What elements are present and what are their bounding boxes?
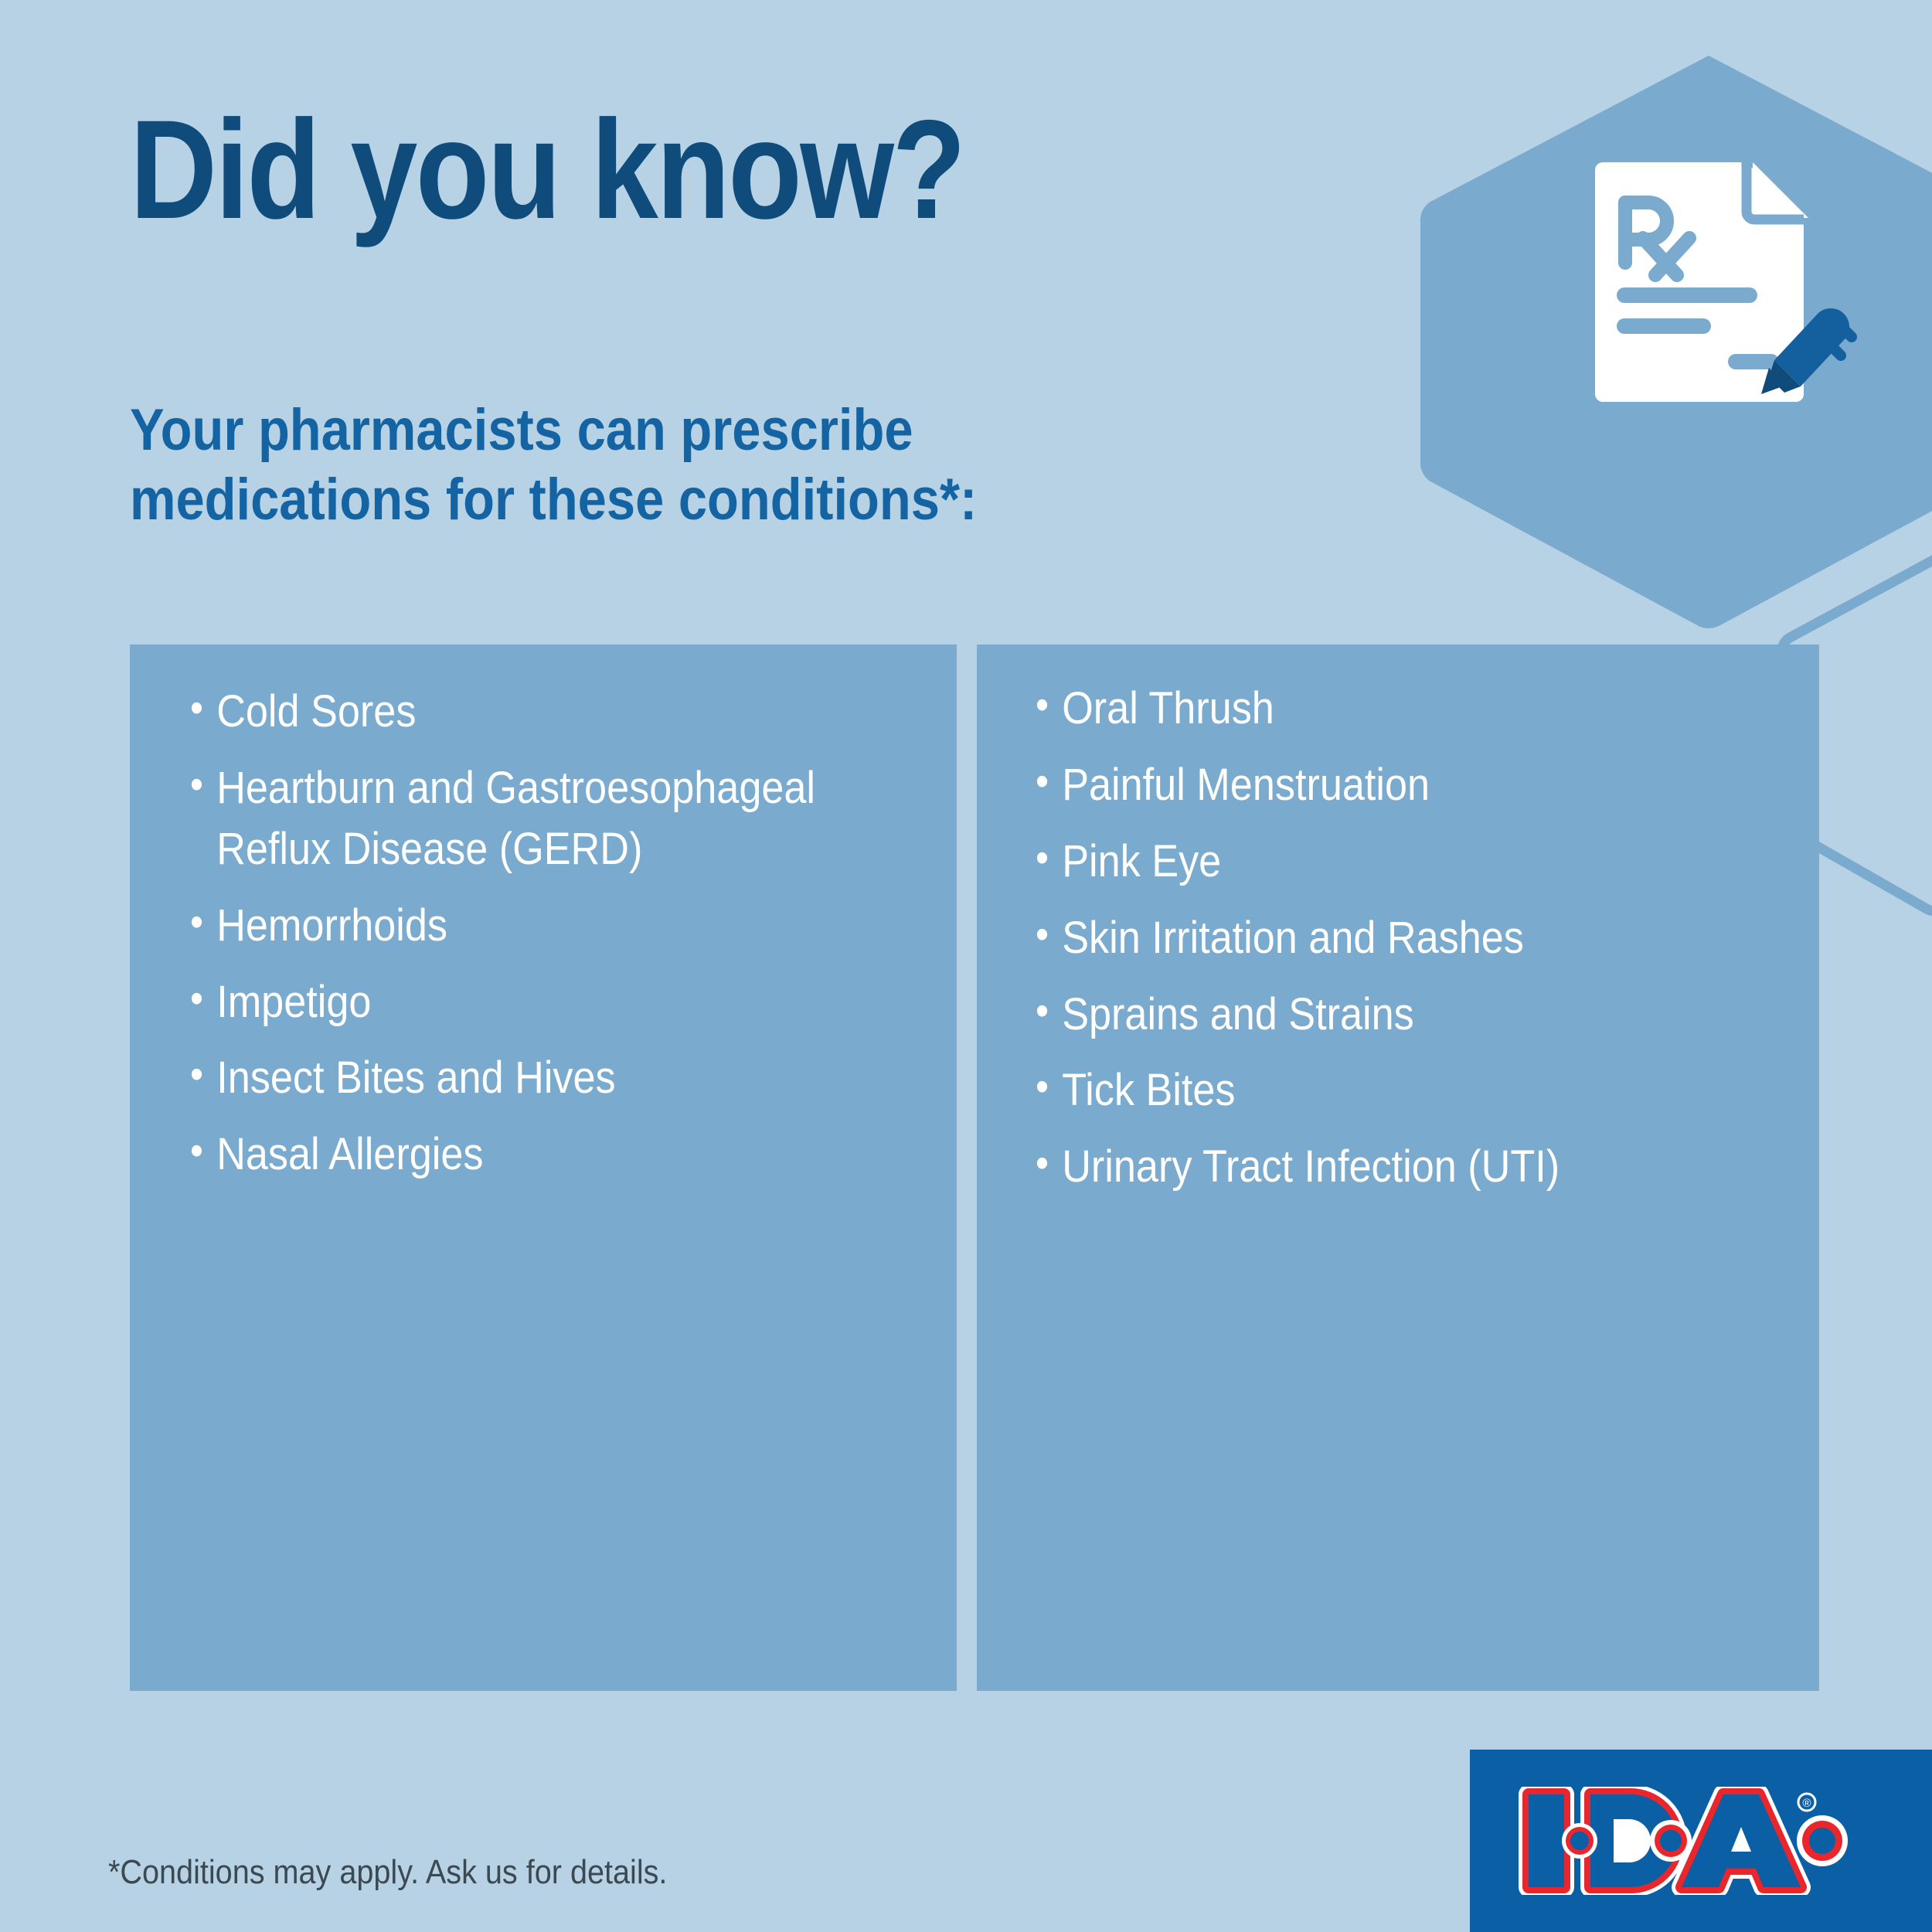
list-item: Heartburn and Gastroesophageal Reflux Di…	[190, 758, 859, 880]
page-subtitle-line-1: Your pharmacists can prescribe	[130, 396, 977, 465]
ida-logo: ®	[1470, 1750, 1932, 1932]
list-item: Pink Eye	[1036, 832, 1727, 893]
conditions-panel-left: Cold Sores Heartburn and Gastroesophagea…	[130, 645, 957, 1691]
list-item: Tick Bites	[1036, 1060, 1727, 1121]
list-item: Impetigo	[190, 972, 859, 1033]
prescription-document-icon	[1581, 155, 1867, 410]
page-subtitle: Your pharmacists can prescribe medicatio…	[130, 396, 977, 534]
list-item: Urinary Tract Infection (UTI)	[1036, 1137, 1727, 1198]
conditions-list-right: Oral Thrush Painful Menstruation Pink Ey…	[977, 645, 1819, 1198]
list-item: Painful Menstruation	[1036, 755, 1727, 816]
poster-canvas: Did you know? Your pharmacists can presc…	[0, 0, 1932, 1932]
page-subtitle-line-2: medications for these conditions*:	[130, 465, 977, 535]
conditions-panel-right: Oral Thrush Painful Menstruation Pink Ey…	[977, 645, 1819, 1691]
list-item: Hemorrhoids	[190, 896, 859, 957]
ida-logo-mark: ®	[1516, 1787, 1856, 1895]
list-item: Oral Thrush	[1036, 679, 1727, 740]
footnote-disclaimer: *Conditions may apply. Ask us for detail…	[108, 1853, 667, 1892]
svg-text:®: ®	[1802, 1797, 1811, 1810]
conditions-list-left: Cold Sores Heartburn and Gastroesophagea…	[130, 645, 957, 1185]
page-title: Did you know?	[130, 99, 964, 240]
list-item: Nasal Allergies	[190, 1124, 859, 1185]
list-item: Cold Sores	[190, 682, 859, 743]
list-item: Insect Bites and Hives	[190, 1048, 859, 1109]
registered-trademark-icon: ®	[1798, 1794, 1815, 1811]
list-item: Sprains and Strains	[1036, 985, 1727, 1046]
list-item: Skin Irritation and Rashes	[1036, 908, 1727, 969]
